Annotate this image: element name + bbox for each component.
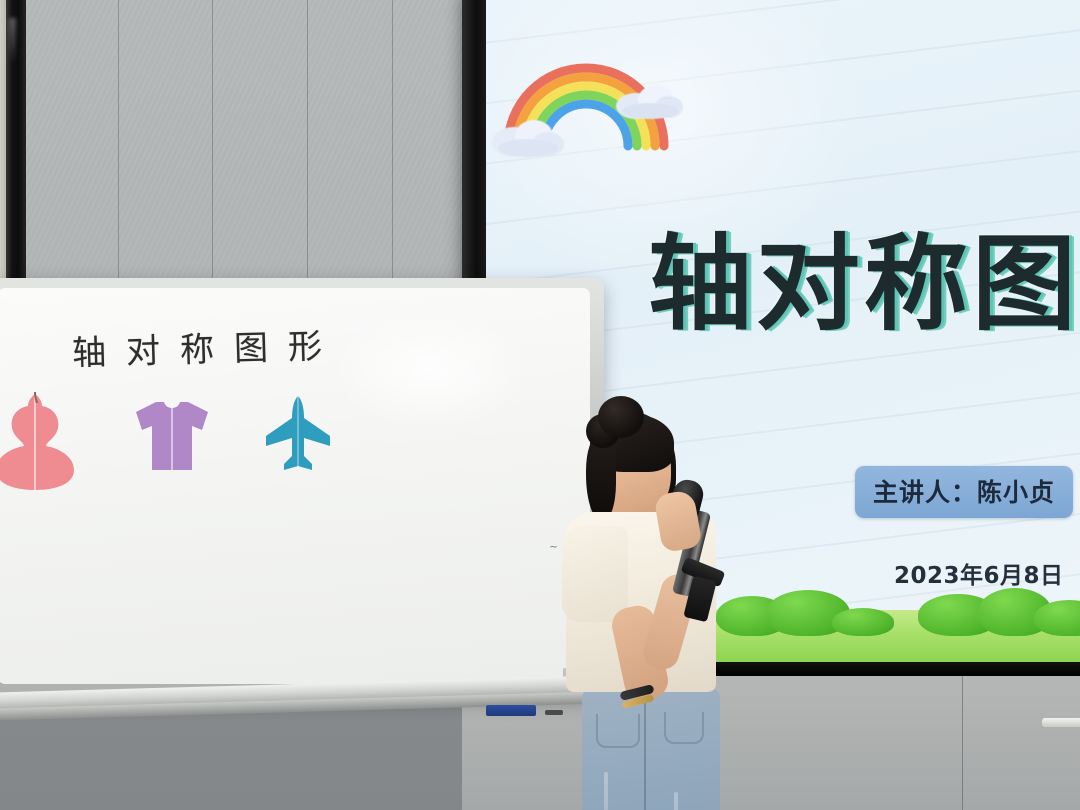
classroom-scene: 轴对称图 主讲人：陈小贞 2023年6月8日 轴对称图形 ~ — [0, 0, 1080, 810]
gourd-cutout[interactable] — [0, 392, 76, 490]
cabinet-handle[interactable] — [1042, 718, 1080, 727]
cloud-icon — [614, 78, 686, 122]
jeans-fold — [604, 772, 608, 810]
hair-bun — [598, 396, 644, 438]
cabinet-seam — [962, 676, 963, 810]
cloud-icon — [490, 112, 568, 158]
jeans-seam — [644, 692, 646, 810]
tshirt-sleeve — [562, 526, 628, 622]
pillar-highlight — [9, 18, 16, 64]
whiteboard-handwriting: 轴对称图形 — [71, 318, 342, 375]
presenter — [560, 392, 760, 810]
jeans-fold — [674, 792, 678, 810]
slide-title: 轴对称图 — [648, 232, 1080, 336]
tshirt-cutout[interactable] — [134, 400, 210, 472]
airplane-cutout[interactable] — [262, 396, 334, 472]
whiteboard-glare — [330, 310, 530, 430]
jeans-pocket — [596, 714, 640, 748]
slide-date: 2023年6月8日 — [894, 556, 1064, 590]
blue-jeans — [582, 688, 720, 810]
blue-eraser[interactable] — [486, 705, 536, 716]
hair-side — [586, 436, 616, 522]
bush-cluster — [832, 608, 894, 636]
speaker-badge: 主讲人：陈小贞 — [855, 466, 1073, 518]
jeans-pocket — [664, 712, 704, 744]
